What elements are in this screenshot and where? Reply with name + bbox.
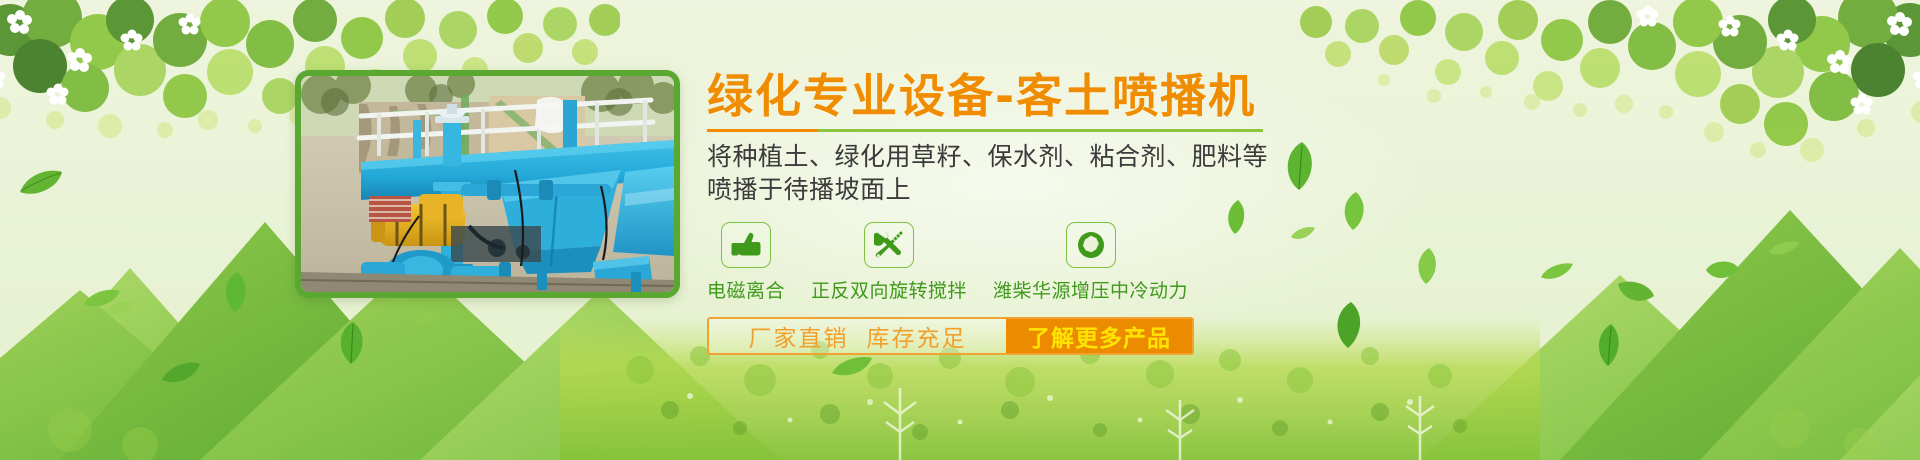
cta-tagline: 厂家直销 库存充足 [709,319,1006,353]
tools-wrench-screwdriver-icon [864,222,914,268]
floating-leaf-icon [18,168,64,198]
product-photo [301,76,674,292]
floating-leaf-icon [415,310,443,326]
feature-label: 正反双向旋转搅拌 [811,276,967,303]
feature-list: 电磁离合 正反双向旋转搅拌 [707,222,1487,303]
thumbs-up-icon [721,222,771,268]
learn-more-button[interactable]: 了解更多产品 [1006,319,1192,353]
floating-leaf-icon [1704,258,1740,284]
page-title: 绿化专业设备-客土喷播机 [707,72,1487,120]
feature-item-bidirectional-mixing: 正反双向旋转搅拌 [811,222,967,303]
banner-subtitle: 将种植土、绿化用草籽、保水剂、粘合剂、肥料等 喷播于待播坡面上 [707,140,1487,206]
floating-leaf-icon [335,320,369,366]
floating-leaf-icon [1768,240,1800,258]
floating-leaf-icon [82,288,122,310]
feature-label: 潍柴华源增压中冷动力 [993,276,1188,303]
engine-ring-icon [1066,222,1116,268]
cta-bar: 厂家直销 库存充足 了解更多产品 [707,317,1194,355]
floating-leaf-icon [1540,262,1574,282]
cta-tagline-right: 库存充足 [867,319,967,353]
floating-leaf-icon [1614,278,1656,308]
floating-leaf-icon [105,300,135,316]
floating-leaf-icon [1592,322,1626,368]
product-photo-frame [295,70,680,298]
thumbs-up-glyph [731,231,761,259]
banner-content: 绿化专业设备-客土喷播机 将种植土、绿化用草籽、保水剂、粘合剂、肥料等 喷播于待… [707,72,1487,355]
feature-item-weichai-engine: 潍柴华源增压中冷动力 [993,222,1188,303]
feature-label: 电磁离合 [707,276,785,303]
promo-banner: 绿化专业设备-客土喷播机 将种植土、绿化用草籽、保水剂、粘合剂、肥料等 喷播于待… [0,0,1920,460]
hydroseeder-machine-image [301,76,674,292]
floating-leaf-icon [830,355,874,379]
cta-tagline-left: 厂家直销 [749,319,849,353]
engine-ring-glyph [1076,230,1106,260]
feature-item-electromagnetic-clutch: 电磁离合 [707,222,785,303]
floating-leaf-icon [220,270,252,314]
floating-leaf-icon [160,360,202,386]
title-divider [707,129,1263,132]
tools-glyph [874,230,904,260]
